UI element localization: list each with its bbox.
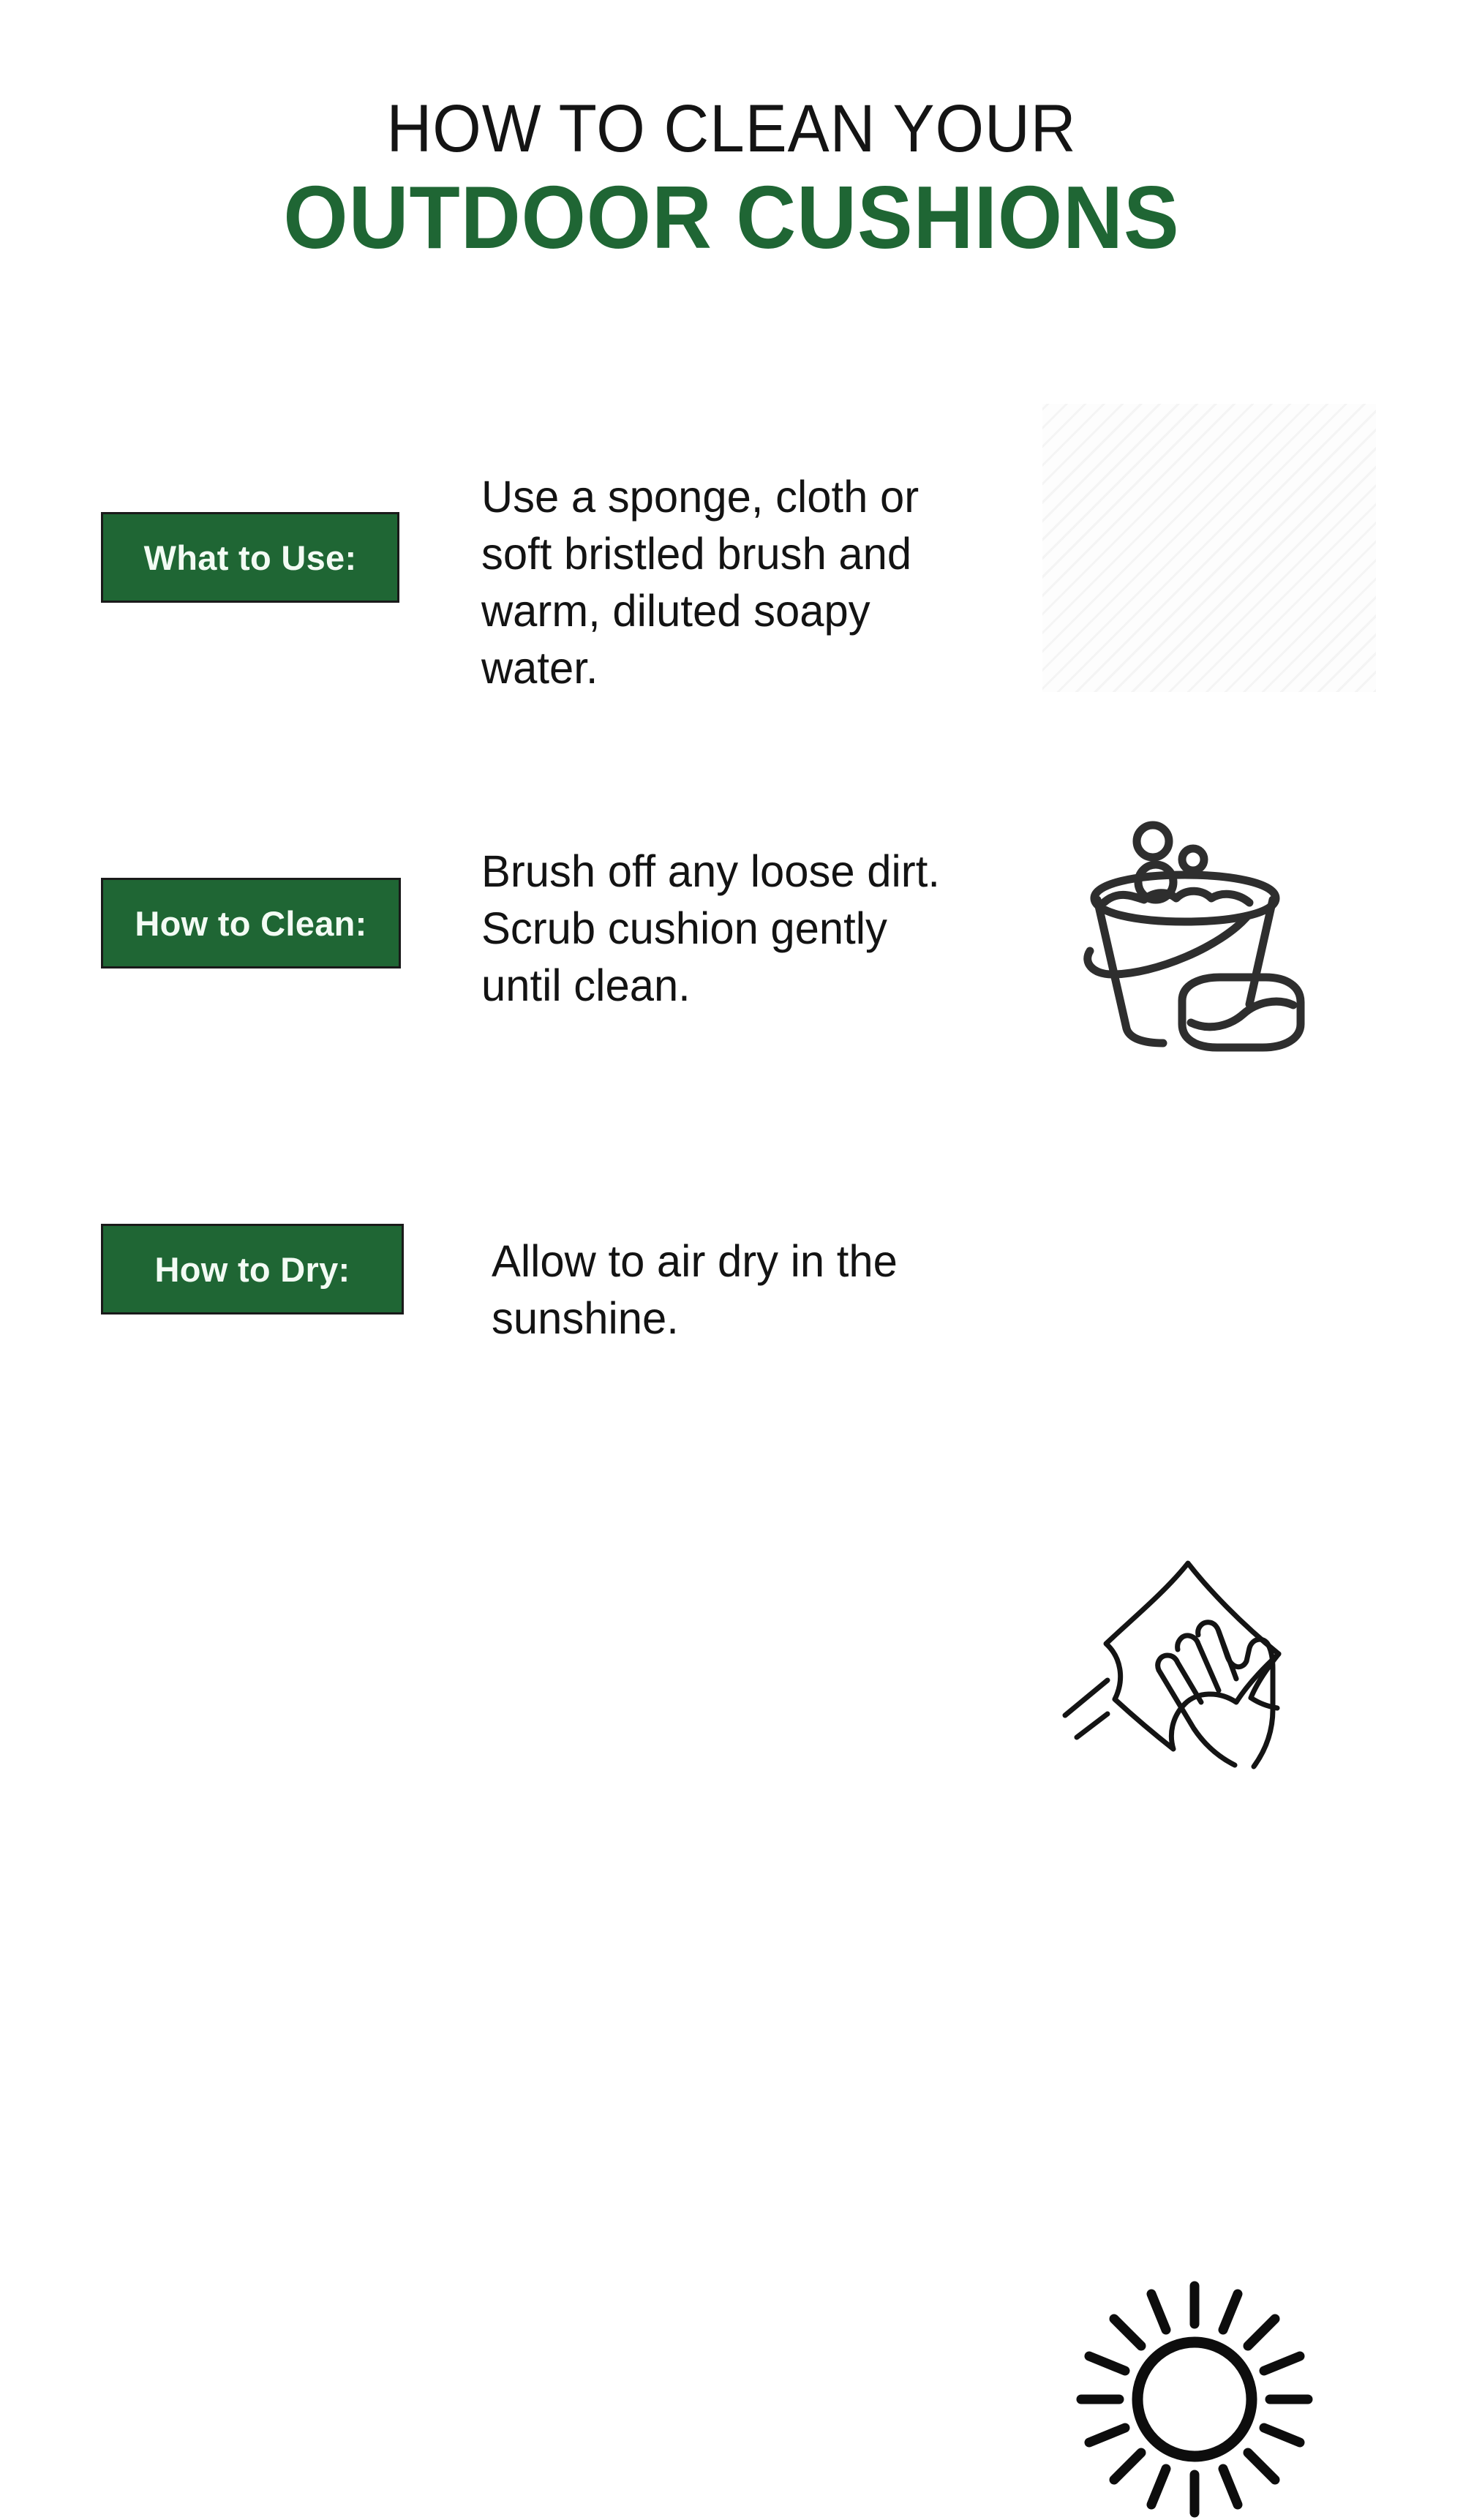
sun-icon [1074, 2279, 1315, 2520]
step-description-line: until clean. [481, 957, 998, 1014]
step-badge-label: What to Use: [144, 541, 357, 575]
step-description-line: warm, diluted soapy water. [481, 582, 998, 696]
infographic-poster: HOW TO CLEAN YOUR OUTDOOR CUSHIONS What … [0, 0, 1463, 1463]
step-row-what-to-use: What to Use: Use a sponge, cloth or soft… [0, 395, 1463, 710]
step-description-line: Brush off any loose dirt. [481, 843, 998, 900]
step-badge-how-to-dry: How to Dry: [101, 1224, 404, 1314]
step-badge-label: How to Clean: [135, 906, 366, 941]
step-badge-label: How to Dry: [154, 1252, 350, 1287]
step-row-how-to-clean: How to Clean: Brush off any loose dirt. … [0, 761, 1463, 1075]
title-line-highlight: OUTDOOR CUSHIONS [51, 173, 1412, 262]
step-description-line: sunshine. [492, 1290, 1008, 1347]
step-description-how-to-clean: Brush off any loose dirt. Scrub cushion … [481, 843, 998, 1014]
step-badge-how-to-clean: How to Clean: [101, 878, 401, 968]
step-badge-what-to-use: What to Use: [101, 512, 399, 603]
step-description-how-to-dry: Allow to air dry in the sunshine. [492, 1233, 1008, 1347]
step-description-line: soft bristled brush and [481, 525, 998, 582]
page-title: HOW TO CLEAN YOUR OUTDOOR CUSHIONS [0, 95, 1463, 262]
step-description-line: Use a sponge, cloth or [481, 468, 998, 525]
step-description-line: Allow to air dry in the [492, 1233, 1008, 1290]
title-line-primary: HOW TO CLEAN YOUR [51, 95, 1412, 162]
step-description-what-to-use: Use a sponge, cloth or soft bristled bru… [481, 468, 998, 696]
hand-wiping-cloth-icon [1062, 1547, 1355, 1781]
step-description-line: Scrub cushion gently [481, 900, 998, 957]
step-row-how-to-dry: How to Dry: Allow to air dry in the suns… [0, 1130, 1463, 1445]
